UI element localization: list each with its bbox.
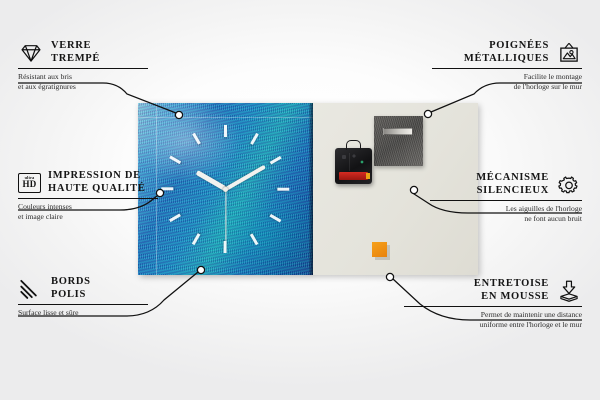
- ultra-hd-icon: ultra HD: [18, 173, 41, 193]
- clock-tick: [162, 188, 226, 191]
- feature-title: ENTRETOISE EN MOUSSE: [474, 278, 549, 303]
- feature-entretoise-en-mousse[interactable]: ENTRETOISE EN MOUSSE Permet de maintenir…: [404, 278, 582, 329]
- clock-second-hand: [225, 189, 226, 241]
- feature-title: BORDS POLIS: [51, 276, 91, 301]
- feature-desc-line2: de l'horloge sur le mur: [432, 82, 582, 92]
- hanger-loop: [346, 140, 361, 150]
- feature-desc-line1: Les aiguilles de l'horloge: [430, 204, 582, 214]
- feature-desc-line2: et aux égratignures: [18, 82, 148, 92]
- gear-icon: [556, 173, 582, 197]
- divider: [430, 200, 582, 201]
- feature-title-row: MÉCANISME SILENCIEUX: [430, 172, 582, 197]
- metal-hanger-plate: [374, 116, 423, 166]
- feature-desc-line2: et image claire: [18, 212, 158, 222]
- feature-title-row: BORDS POLIS: [18, 276, 148, 301]
- feature-desc-line2: uniforme entre l'horloge et le mur: [404, 320, 582, 330]
- divider: [18, 304, 148, 305]
- clock-tick: [224, 125, 227, 189]
- feature-title: MÉCANISME SILENCIEUX: [476, 172, 549, 197]
- feature-title: IMPRESSION DE HAUTE QUALITÉ: [48, 170, 146, 195]
- feature-mecanisme-silencieux[interactable]: MÉCANISME SILENCIEUX Les aiguilles de l'…: [430, 172, 582, 223]
- clock-tick: [169, 188, 226, 222]
- feature-desc-line1: Résistant aux bris: [18, 72, 148, 82]
- feature-title-row: ENTRETOISE EN MOUSSE: [404, 278, 582, 303]
- feature-desc-line2: ne font aucun bruit: [430, 214, 582, 224]
- feature-poignees-metalliques[interactable]: POIGNÉES MÉTALLIQUES Facilite le montage…: [432, 40, 582, 91]
- feature-desc-line1: Couleurs intenses: [18, 202, 158, 212]
- clock-mechanism: [335, 148, 372, 184]
- clock-center-pin: [223, 187, 228, 192]
- picture-frame-hanger-icon: [556, 41, 582, 65]
- feature-desc-line1: Permet de maintenir une distance: [404, 310, 582, 320]
- divider: [404, 306, 582, 307]
- ultra-hd-large-text: HD: [22, 180, 36, 189]
- feature-title: VERRE TREMPÉ: [51, 40, 100, 65]
- feature-desc-line1: Surface lisse et sûre: [18, 308, 148, 318]
- feature-title-row: POIGNÉES MÉTALLIQUES: [432, 40, 582, 65]
- clock-tick: [226, 188, 290, 191]
- feature-bords-polis[interactable]: BORDS POLIS Surface lisse et sûre: [18, 276, 148, 318]
- clock-front-panel: [138, 103, 313, 275]
- product-image: [138, 103, 478, 275]
- divider: [18, 198, 158, 199]
- feature-title-row: ultra HD IMPRESSION DE HAUTE QUALITÉ: [18, 170, 158, 195]
- battery: [339, 172, 368, 180]
- feature-desc-line1: Facilite le montage: [432, 72, 582, 82]
- polished-edges-icon: [18, 277, 44, 301]
- foam-spacer: [372, 242, 387, 257]
- press-down-foam-icon: [556, 279, 582, 303]
- divider: [18, 68, 148, 69]
- feature-title: POIGNÉES MÉTALLIQUES: [464, 40, 549, 65]
- product-feature-infographic: VERRE TREMPÉ Résistant aux bris et aux é…: [0, 0, 600, 400]
- feature-verre-trempe[interactable]: VERRE TREMPÉ Résistant aux bris et aux é…: [18, 40, 148, 91]
- diamond-icon: [18, 41, 44, 65]
- feature-title-row: VERRE TREMPÉ: [18, 40, 148, 65]
- feature-impression-haute-qualite[interactable]: ultra HD IMPRESSION DE HAUTE QUALITÉ Cou…: [18, 170, 158, 221]
- mechanism-detail: [340, 153, 367, 171]
- divider: [432, 68, 582, 69]
- clock-face: [138, 103, 313, 275]
